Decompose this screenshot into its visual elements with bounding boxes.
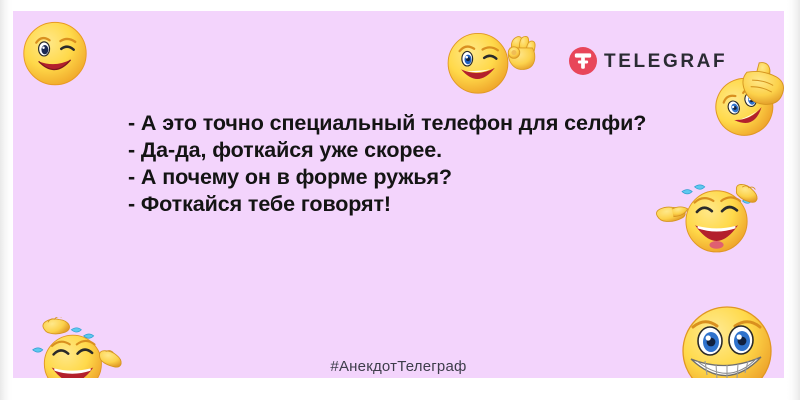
- telegraf-wordmark: TELEGRAF: [604, 52, 727, 71]
- joke-line-2: - Да-да, фоткайся уже скорее.: [128, 137, 748, 164]
- winking-face-ok-hand-emoji: [441, 25, 541, 97]
- image-frame: TELEGRAF - А это точно специальный телеф…: [0, 0, 800, 400]
- hashtag-label: #АнекдотТелеграф: [13, 358, 784, 375]
- joke-card: TELEGRAF - А это точно специальный телеф…: [13, 11, 784, 378]
- telegraf-logo[interactable]: TELEGRAF: [569, 47, 727, 75]
- joke-line-3: - А почему он в форме ружья?: [128, 164, 748, 191]
- telegraf-logo-mark-icon: [569, 47, 597, 75]
- joke-text-block: - А это точно специальный телефон для се…: [128, 110, 748, 218]
- joke-line-4: - Фоткайся тебе говорят!: [128, 191, 748, 218]
- joke-line-1: - А это точно специальный телефон для се…: [128, 110, 748, 137]
- winking-face-emoji: [16, 13, 94, 91]
